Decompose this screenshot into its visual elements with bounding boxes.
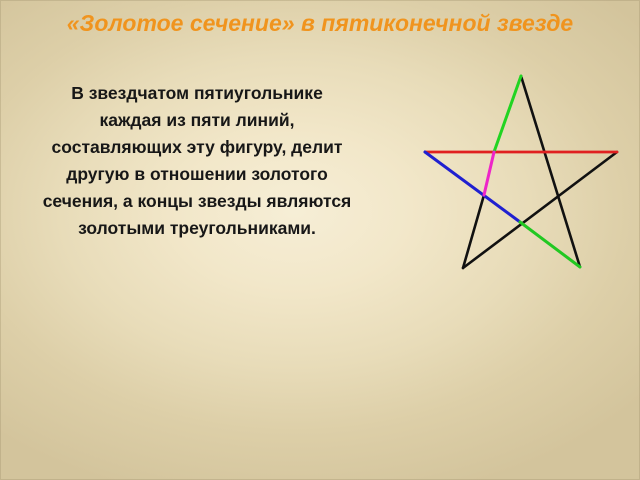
body-paragraph: В звездчатом пятиугольнике каждая из пят… (42, 80, 352, 242)
segment-black-left-lower (463, 195, 484, 268)
pentagram-diagram (400, 55, 640, 290)
segment-black-top-right (521, 76, 580, 267)
page-title: «Золотое сечение» в пятиконечной звезде (28, 8, 612, 38)
slide-canvas: «Золотое сечение» в пятиконечной звезде … (0, 0, 640, 480)
segment-black-right-chord (463, 152, 617, 268)
segment-magenta-mid (484, 152, 494, 195)
golden-ratio-formula: синий зеленый = красный синий = зеленый … (0, 336, 640, 406)
segment-blue-chord (425, 152, 520, 222)
segment-green-upper (494, 76, 521, 152)
segment-green-lower (520, 222, 580, 267)
pentagram-svg (400, 55, 640, 290)
